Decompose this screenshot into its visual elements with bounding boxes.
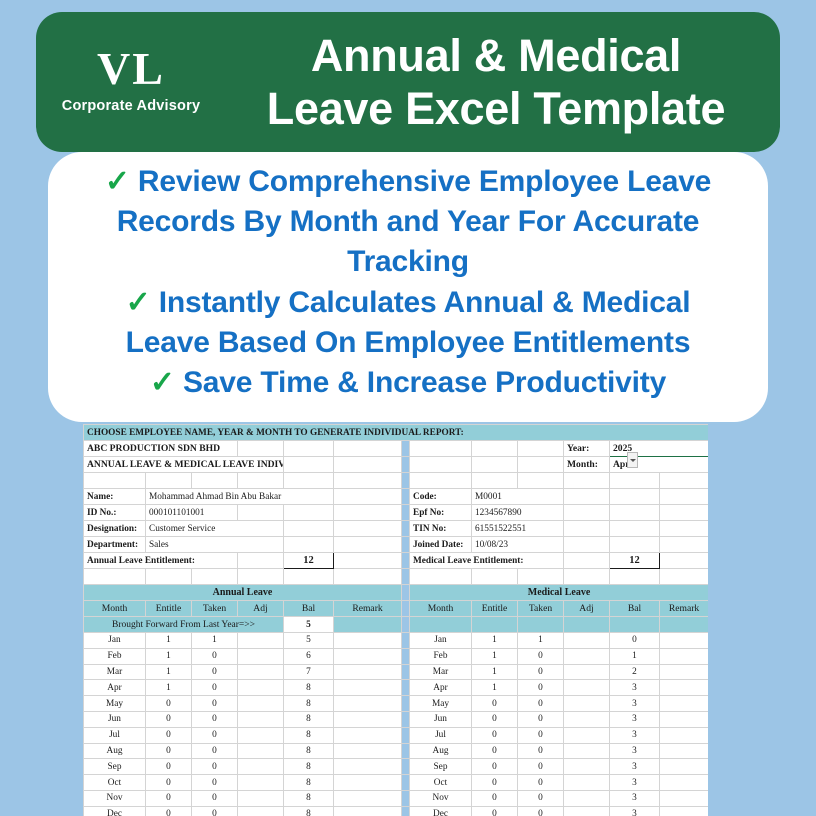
blank-cell: [564, 473, 610, 489]
medical-col-bal: Bal: [610, 601, 660, 617]
medical-cell-entitle[interactable]: 0: [472, 759, 518, 775]
year-label: Year:: [564, 441, 610, 457]
annual-cell-taken[interactable]: 0: [192, 711, 238, 727]
annual-cell-entitle[interactable]: 0: [146, 711, 192, 727]
annual-cell-taken[interactable]: 0: [192, 759, 238, 775]
medical-cell-month[interactable]: Apr: [410, 680, 472, 696]
blank-cell: [564, 537, 610, 553]
annual-cell-adj[interactable]: [238, 727, 284, 743]
blank-cell: [564, 521, 610, 537]
brought-forward-label: Brought Forward From Last Year=>>: [84, 617, 284, 633]
medical-cell-taken[interactable]: 0: [518, 727, 564, 743]
blank-cell: [564, 553, 610, 569]
annual-entitlement-label: Annual Leave Entitlement:: [84, 553, 238, 569]
gap: [402, 759, 410, 775]
annual-cell-taken[interactable]: 0: [192, 727, 238, 743]
annual-cell-remark[interactable]: [334, 790, 402, 806]
annual-cell-entitle[interactable]: 1: [146, 664, 192, 680]
medical-cell-adj[interactable]: [564, 711, 610, 727]
annual-col-bal: Bal: [284, 601, 334, 617]
gap: [402, 696, 410, 712]
blank-cell: [238, 441, 284, 457]
gap: [402, 553, 410, 569]
annual-cell-month[interactable]: Jul: [84, 727, 146, 743]
code-label: Code:: [410, 489, 472, 505]
annual-cell-bal[interactable]: 8: [284, 680, 334, 696]
blank-cell: [238, 553, 284, 569]
gap: [402, 617, 410, 633]
field-row-designation: Designation: Customer Service TIN No: 61…: [84, 521, 709, 537]
feature-line-6-text: Save Time & Increase Productivity: [183, 366, 666, 399]
medical-entitlement-label: Medical Leave Entitlement:: [410, 553, 564, 569]
annual-cell-entitle[interactable]: 0: [146, 775, 192, 791]
medical-cell-month[interactable]: Jul: [410, 727, 472, 743]
annual-cell-adj[interactable]: [238, 696, 284, 712]
annual-cell-bal[interactable]: 8: [284, 696, 334, 712]
medical-cell-entitle[interactable]: 1: [472, 633, 518, 649]
annual-cell-taken[interactable]: 0: [192, 775, 238, 791]
annual-cell-entitle[interactable]: 0: [146, 790, 192, 806]
gap: [402, 806, 410, 816]
id-value[interactable]: 000101101001: [146, 505, 238, 521]
annual-entitlement-value[interactable]: 12: [284, 553, 334, 569]
blank-cell: [334, 473, 402, 489]
medical-cell-taken[interactable]: 0: [518, 664, 564, 680]
annual-cell-month[interactable]: Oct: [84, 775, 146, 791]
medical-cell-month[interactable]: Feb: [410, 648, 472, 664]
annual-col-month: Month: [84, 601, 146, 617]
gap: [402, 569, 410, 585]
brought-forward-remark: [334, 617, 402, 633]
annual-cell-remark[interactable]: [334, 633, 402, 649]
medical-cell-adj[interactable]: [564, 790, 610, 806]
medical-cell-bal[interactable]: 3: [610, 743, 660, 759]
gap: [402, 633, 410, 649]
annual-cell-bal[interactable]: 8: [284, 759, 334, 775]
name-value[interactable]: Mohammad Ahmad Bin Abu Bakar: [146, 489, 334, 505]
annual-cell-entitle[interactable]: 0: [146, 727, 192, 743]
feature-line-4-text: Instantly Calculates Annual & Medical: [159, 286, 691, 319]
gap: [402, 680, 410, 696]
blank-cell: [334, 521, 402, 537]
gap: [402, 664, 410, 680]
medical-cell-adj[interactable]: [564, 680, 610, 696]
fill-handle[interactable]: [707, 455, 708, 457]
entitlement-row: Annual Leave Entitlement: 12 Medical Lea…: [84, 553, 709, 569]
annual-cell-taken[interactable]: 1: [192, 633, 238, 649]
medical-cell-taken[interactable]: 0: [518, 775, 564, 791]
annual-cell-month[interactable]: Mar: [84, 664, 146, 680]
medical-cell-remark[interactable]: [660, 680, 709, 696]
medical-cell-bal[interactable]: 2: [610, 664, 660, 680]
blank-cell: [564, 569, 610, 585]
blank-cell: [284, 569, 334, 585]
table-row: Oct008Oct003: [84, 775, 709, 791]
blank-cell: [660, 537, 709, 553]
annual-cell-adj[interactable]: [238, 633, 284, 649]
blank-cell: [84, 473, 146, 489]
gap: [402, 457, 410, 473]
annual-cell-entitle[interactable]: 0: [146, 743, 192, 759]
medical-cell-month[interactable]: Jun: [410, 711, 472, 727]
medical-cell-bal[interactable]: 1: [610, 648, 660, 664]
medical-cell-remark[interactable]: [660, 664, 709, 680]
blank-cell: [334, 441, 402, 457]
medical-cell-remark[interactable]: [660, 711, 709, 727]
gap: [402, 775, 410, 791]
blank-cell: [334, 537, 402, 553]
medical-cell-entitle[interactable]: 1: [472, 680, 518, 696]
annual-cell-remark[interactable]: [334, 696, 402, 712]
epf-value[interactable]: 1234567890: [472, 505, 564, 521]
annual-cell-month[interactable]: May: [84, 696, 146, 712]
blank-cell: [518, 457, 564, 473]
annual-cell-month[interactable]: Aug: [84, 743, 146, 759]
medical-cell-month[interactable]: Sep: [410, 759, 472, 775]
brought-forward-row: Brought Forward From Last Year=>> 5: [84, 617, 709, 633]
medical-cell-adj[interactable]: [564, 664, 610, 680]
medical-cell-remark[interactable]: [660, 648, 709, 664]
annual-col-entitle: Entitle: [146, 601, 192, 617]
medical-cell-month[interactable]: Dec: [410, 806, 472, 816]
blank-cell: [610, 505, 660, 521]
annual-cell-adj[interactable]: [238, 790, 284, 806]
gap: [402, 711, 410, 727]
medical-bf-blank: [410, 617, 472, 633]
company-name: ABC PRODUCTION SDN BHD: [84, 441, 238, 457]
medical-cell-remark[interactable]: [660, 743, 709, 759]
instruction-text: CHOOSE EMPLOYEE NAME, YEAR & MONTH TO GE…: [84, 425, 709, 441]
medical-cell-bal[interactable]: 3: [610, 759, 660, 775]
annual-table-title: Annual Leave: [84, 585, 402, 601]
annual-cell-month[interactable]: Feb: [84, 648, 146, 664]
blank-cell: [334, 457, 402, 473]
blank-cell: [192, 473, 238, 489]
medical-cell-remark[interactable]: [660, 806, 709, 816]
id-label: ID No.:: [84, 505, 146, 521]
annual-cell-month[interactable]: Jun: [84, 711, 146, 727]
medical-cell-adj[interactable]: [564, 743, 610, 759]
medical-cell-remark[interactable]: [660, 633, 709, 649]
page-title: Annual & Medical Leave Excel Template: [226, 29, 780, 135]
month-value[interactable]: Apr: [610, 457, 709, 473]
table-row: Mar107Mar102: [84, 664, 709, 680]
field-row-department: Department: Sales Joined Date: 10/08/23: [84, 537, 709, 553]
medical-cell-bal[interactable]: 3: [610, 806, 660, 816]
gap: [402, 790, 410, 806]
annual-cell-bal[interactable]: 8: [284, 806, 334, 816]
medical-cell-entitle[interactable]: 0: [472, 790, 518, 806]
year-value-cell[interactable]: 2025: [610, 441, 709, 457]
gap: [402, 473, 410, 489]
blank-cell: [284, 521, 334, 537]
medical-cell-month[interactable]: Aug: [410, 743, 472, 759]
code-value[interactable]: M0001: [472, 489, 564, 505]
medical-cell-taken[interactable]: 0: [518, 806, 564, 816]
feature-line-2: Records By Month and Year For Accurate: [64, 202, 752, 242]
medical-cell-remark[interactable]: [660, 727, 709, 743]
blank-cell: [660, 473, 709, 489]
joined-date-value[interactable]: 10/08/23: [472, 537, 564, 553]
medical-col-adj: Adj: [564, 601, 610, 617]
annual-cell-taken[interactable]: 0: [192, 743, 238, 759]
annual-cell-taken[interactable]: 0: [192, 648, 238, 664]
medical-cell-taken[interactable]: 0: [518, 696, 564, 712]
annual-cell-taken[interactable]: 0: [192, 696, 238, 712]
annual-cell-bal[interactable]: 8: [284, 790, 334, 806]
blank-cell: [518, 441, 564, 457]
annual-cell-month[interactable]: Dec: [84, 806, 146, 816]
blank-cell: [518, 473, 564, 489]
medical-cell-adj[interactable]: [564, 648, 610, 664]
medical-cell-month[interactable]: Nov: [410, 790, 472, 806]
medical-cell-taken[interactable]: 0: [518, 680, 564, 696]
leave-rows-body: Jan115Jan110Feb106Feb101Mar107Mar102Apr1…: [84, 633, 709, 816]
annual-cell-adj[interactable]: [238, 680, 284, 696]
designation-value[interactable]: Customer Service: [146, 521, 284, 537]
annual-cell-month[interactable]: Jan: [84, 633, 146, 649]
medical-cell-month[interactable]: Oct: [410, 775, 472, 791]
annual-cell-remark[interactable]: [334, 664, 402, 680]
blank-cell: [518, 569, 564, 585]
gap: [402, 521, 410, 537]
table-row: Jul008Jul003: [84, 727, 709, 743]
designation-label: Designation:: [84, 521, 146, 537]
annual-col-taken: Taken: [192, 601, 238, 617]
table-row: Jun008Jun003: [84, 711, 709, 727]
annual-cell-adj[interactable]: [238, 743, 284, 759]
medical-cell-adj[interactable]: [564, 633, 610, 649]
annual-cell-taken[interactable]: 0: [192, 664, 238, 680]
medical-cell-adj[interactable]: [564, 696, 610, 712]
annual-cell-remark[interactable]: [334, 680, 402, 696]
annual-cell-bal[interactable]: 8: [284, 727, 334, 743]
medical-cell-entitle[interactable]: 0: [472, 711, 518, 727]
blank-cell: [472, 457, 518, 473]
annual-cell-remark[interactable]: [334, 711, 402, 727]
blank-cell: [660, 505, 709, 521]
annual-cell-bal[interactable]: 7: [284, 664, 334, 680]
medical-bf-blank: [610, 617, 660, 633]
department-value[interactable]: Sales: [146, 537, 284, 553]
annual-cell-adj[interactable]: [238, 806, 284, 816]
medical-col-month: Month: [410, 601, 472, 617]
blank-cell: [610, 489, 660, 505]
logo-subtitle: Corporate Advisory: [62, 98, 200, 114]
blank-cell: [564, 505, 610, 521]
medical-cell-remark[interactable]: [660, 696, 709, 712]
blank-cell: [334, 505, 402, 521]
blank-cell: [238, 569, 284, 585]
annual-cell-bal[interactable]: 5: [284, 633, 334, 649]
medical-cell-taken[interactable]: 1: [518, 633, 564, 649]
annual-cell-month[interactable]: Nov: [84, 790, 146, 806]
medical-col-remark: Remark: [660, 601, 709, 617]
annual-cell-adj[interactable]: [238, 664, 284, 680]
blank-cell: [660, 569, 709, 585]
medical-cell-month[interactable]: Jan: [410, 633, 472, 649]
name-label: Name:: [84, 489, 146, 505]
blank-cell: [610, 569, 660, 585]
gap: [402, 505, 410, 521]
blank-cell: [238, 505, 284, 521]
year-dropdown-arrow-icon[interactable]: [627, 452, 638, 468]
medical-cell-bal[interactable]: 3: [610, 727, 660, 743]
annual-cell-entitle[interactable]: 0: [146, 696, 192, 712]
medical-cell-bal[interactable]: 3: [610, 775, 660, 791]
medical-cell-adj[interactable]: [564, 775, 610, 791]
department-label: Department:: [84, 537, 146, 553]
medical-cell-entitle[interactable]: 0: [472, 727, 518, 743]
annual-cell-bal[interactable]: 8: [284, 743, 334, 759]
blank-cell: [334, 489, 402, 505]
annual-cell-remark[interactable]: [334, 759, 402, 775]
medical-cell-bal[interactable]: 0: [610, 633, 660, 649]
blank-cell: [660, 489, 709, 505]
annual-col-adj: Adj: [238, 601, 284, 617]
medical-cell-entitle[interactable]: 0: [472, 775, 518, 791]
annual-cell-entitle[interactable]: 1: [146, 633, 192, 649]
medical-cell-remark[interactable]: [660, 759, 709, 775]
feature-line-4: ✓ Instantly Calculates Annual & Medical: [64, 283, 752, 323]
gap: [402, 648, 410, 664]
table-row: Feb106Feb101: [84, 648, 709, 664]
table-row: Jan115Jan110: [84, 633, 709, 649]
medical-cell-bal[interactable]: 3: [610, 680, 660, 696]
annual-cell-adj[interactable]: [238, 711, 284, 727]
blank-cell: [284, 457, 334, 473]
blank-cell: [334, 569, 402, 585]
blank-cell: [410, 569, 472, 585]
medical-cell-entitle[interactable]: 0: [472, 806, 518, 816]
blank-cell: [610, 521, 660, 537]
annual-cell-remark[interactable]: [334, 727, 402, 743]
medical-cell-adj[interactable]: [564, 759, 610, 775]
medical-cell-month[interactable]: Mar: [410, 664, 472, 680]
table-row: Sep008Sep003: [84, 759, 709, 775]
annual-cell-taken[interactable]: 0: [192, 790, 238, 806]
annual-cell-adj[interactable]: [238, 648, 284, 664]
annual-cell-adj[interactable]: [238, 759, 284, 775]
medical-bf-blank: [660, 617, 709, 633]
check-icon: ✓: [105, 165, 130, 198]
feature-line-1: ✓ Review Comprehensive Employee Leave: [64, 162, 752, 202]
gap: [402, 489, 410, 505]
blank-cell: [238, 473, 284, 489]
check-icon: ✓: [150, 366, 175, 399]
medical-cell-taken[interactable]: 0: [518, 790, 564, 806]
table-row: Aug008Aug003: [84, 743, 709, 759]
medical-cell-entitle[interactable]: 1: [472, 664, 518, 680]
gap: [402, 585, 410, 601]
blank-cell: [284, 537, 334, 553]
company-row: ABC PRODUCTION SDN BHD Year: 2025: [84, 441, 709, 457]
annual-cell-entitle[interactable]: 0: [146, 759, 192, 775]
medical-cell-adj[interactable]: [564, 806, 610, 816]
medical-cell-adj[interactable]: [564, 727, 610, 743]
feature-line-5: Leave Based On Employee Entitlements: [64, 323, 752, 363]
tin-value[interactable]: 61551522551: [472, 521, 564, 537]
blank-cell: [284, 473, 334, 489]
medical-cell-taken[interactable]: 0: [518, 711, 564, 727]
table-row: Nov008Nov003: [84, 790, 709, 806]
blank-cell: [410, 473, 472, 489]
medical-col-entitle: Entitle: [472, 601, 518, 617]
annual-cell-remark[interactable]: [334, 806, 402, 816]
annual-cell-month[interactable]: Apr: [84, 680, 146, 696]
brand-logo: VL Corporate Advisory: [36, 46, 226, 114]
blank-cell: [146, 569, 192, 585]
annual-cell-remark[interactable]: [334, 775, 402, 791]
medical-cell-bal[interactable]: 3: [610, 696, 660, 712]
medical-cell-entitle[interactable]: 1: [472, 648, 518, 664]
annual-col-remark: Remark: [334, 601, 402, 617]
annual-cell-bal[interactable]: 8: [284, 775, 334, 791]
epf-label: Epf No:: [410, 505, 472, 521]
medical-cell-bal[interactable]: 3: [610, 790, 660, 806]
medical-entitlement-value[interactable]: 12: [610, 553, 660, 569]
annual-cell-taken[interactable]: 0: [192, 680, 238, 696]
annual-cell-bal[interactable]: 8: [284, 711, 334, 727]
annual-cell-taken[interactable]: 0: [192, 806, 238, 816]
gap: [402, 441, 410, 457]
medical-cell-remark[interactable]: [660, 775, 709, 791]
annual-cell-entitle[interactable]: 1: [146, 680, 192, 696]
page-title-line2: Leave Excel Template: [226, 82, 766, 135]
medical-cell-taken[interactable]: 0: [518, 743, 564, 759]
medical-cell-entitle[interactable]: 0: [472, 743, 518, 759]
report-title-row: ANNUAL LEAVE & MEDICAL LEAVE INDIVIDUAL …: [84, 457, 709, 473]
annual-cell-adj[interactable]: [238, 775, 284, 791]
annual-cell-entitle[interactable]: 0: [146, 806, 192, 816]
annual-cell-remark[interactable]: [334, 648, 402, 664]
page-title-line1: Annual & Medical: [226, 29, 766, 82]
brought-forward-value[interactable]: 5: [284, 617, 334, 633]
annual-cell-entitle[interactable]: 1: [146, 648, 192, 664]
blank-cell: [472, 441, 518, 457]
column-header-row: Month Entitle Taken Adj Bal Remark Month…: [84, 601, 709, 617]
annual-cell-remark[interactable]: [334, 743, 402, 759]
medical-cell-entitle[interactable]: 0: [472, 696, 518, 712]
blank-cell: [84, 569, 146, 585]
blank-cell: [334, 553, 402, 569]
blank-cell: [660, 521, 709, 537]
medical-bf-blank: [518, 617, 564, 633]
header-banner: VL Corporate Advisory Annual & Medical L…: [36, 12, 780, 152]
medical-cell-remark[interactable]: [660, 790, 709, 806]
medical-bf-blank: [472, 617, 518, 633]
feature-line-6: ✓ Save Time & Increase Productivity: [64, 363, 752, 403]
medical-cell-taken[interactable]: 0: [518, 759, 564, 775]
spreadsheet[interactable]: CHOOSE EMPLOYEE NAME, YEAR & MONTH TO GE…: [83, 424, 708, 816]
blank-cell: [284, 441, 334, 457]
blank-cell: [660, 553, 709, 569]
blank-cell: [410, 457, 472, 473]
table-row: May008May003: [84, 696, 709, 712]
report-title: ANNUAL LEAVE & MEDICAL LEAVE INDIVIDUAL …: [84, 457, 284, 473]
spacer-row: [84, 569, 709, 585]
field-row-name: Name: Mohammad Ahmad Bin Abu Bakar Code:…: [84, 489, 709, 505]
medical-col-taken: Taken: [518, 601, 564, 617]
field-row-id: ID No.: 000101101001 Epf No: 1234567890: [84, 505, 709, 521]
medical-cell-month[interactable]: May: [410, 696, 472, 712]
medical-cell-taken[interactable]: 0: [518, 648, 564, 664]
blank-cell: [410, 441, 472, 457]
annual-cell-bal[interactable]: 6: [284, 648, 334, 664]
blank-cell: [146, 473, 192, 489]
annual-cell-month[interactable]: Sep: [84, 759, 146, 775]
medical-cell-bal[interactable]: 3: [610, 711, 660, 727]
